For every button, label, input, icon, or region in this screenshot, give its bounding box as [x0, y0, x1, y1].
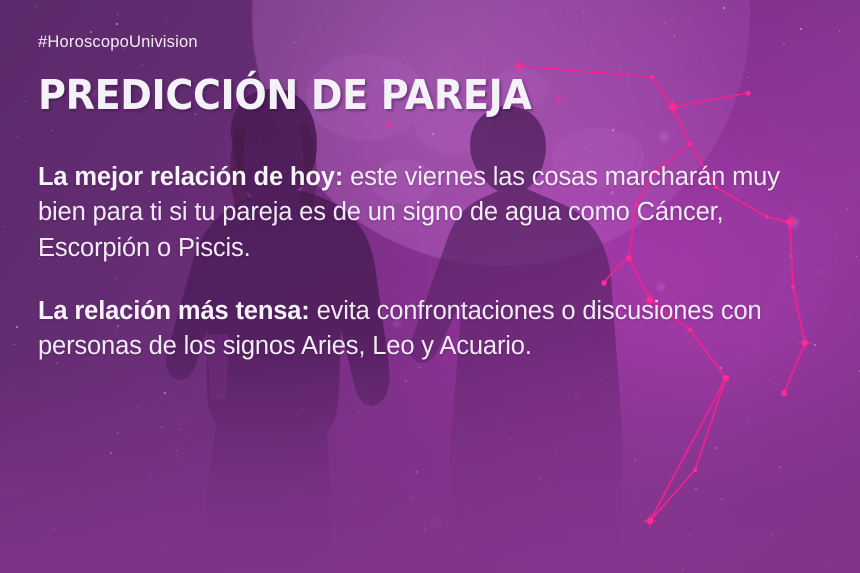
content-layer: #HoroscopoUnivision PREDICCIÓN DE PAREJA…	[0, 0, 860, 573]
hashtag-label: #HoroscopoUnivision	[38, 34, 822, 51]
body-text-block: La mejor relación de hoy: este viernes l…	[38, 160, 822, 365]
paragraph-lead: La relación más tensa:	[38, 297, 310, 325]
paragraph-tense-relationship: La relación más tensa: evita confrontaci…	[38, 294, 822, 365]
paragraph-lead: La mejor relación de hoy:	[38, 163, 343, 191]
paragraph-best-relationship: La mejor relación de hoy: este viernes l…	[38, 160, 822, 267]
horoscope-card: #HoroscopoUnivision PREDICCIÓN DE PAREJA…	[0, 0, 860, 573]
page-title: PREDICCIÓN DE PAREJA	[38, 75, 767, 116]
